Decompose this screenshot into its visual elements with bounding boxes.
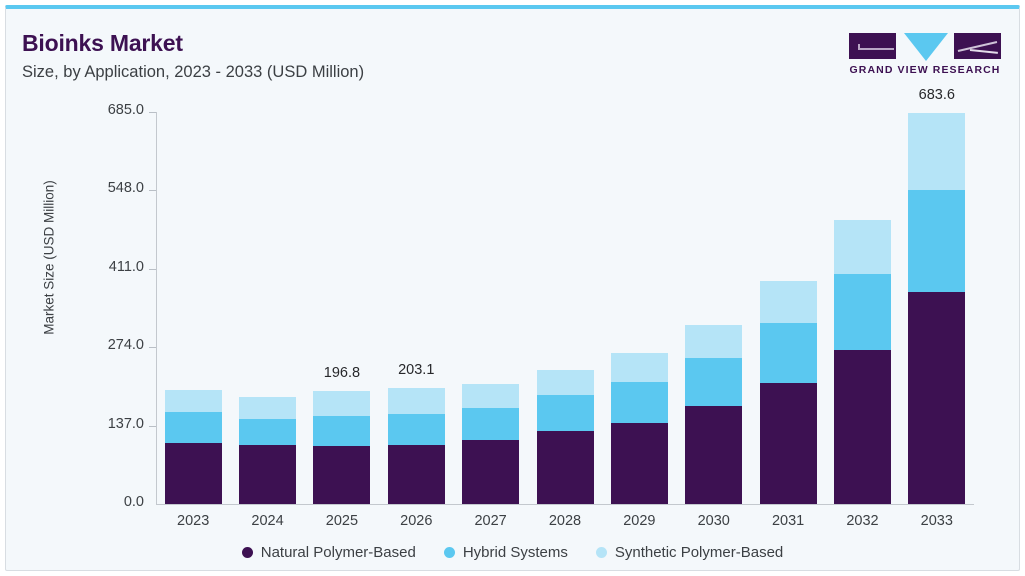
- bar-segment[interactable]: [165, 412, 222, 443]
- bar-segment[interactable]: [611, 423, 668, 504]
- y-tick-label: 137.0: [74, 416, 144, 432]
- bar-segment[interactable]: [760, 281, 817, 323]
- x-tick-label: 2027: [451, 513, 531, 529]
- x-tick-label: 2028: [525, 513, 605, 529]
- legend-label: Hybrid Systems: [463, 544, 568, 561]
- y-tick-mark: [149, 112, 156, 113]
- y-tick-mark: [149, 190, 156, 191]
- bar-segment[interactable]: [388, 445, 445, 505]
- legend-item[interactable]: Hybrid Systems: [444, 544, 568, 561]
- x-tick-label: 2024: [228, 513, 308, 529]
- x-tick-label: 2032: [822, 513, 902, 529]
- bar-segment[interactable]: [611, 382, 668, 423]
- y-tick-mark: [149, 347, 156, 348]
- x-axis-line: [156, 504, 974, 505]
- x-tick-label: 2026: [376, 513, 456, 529]
- bar-stack[interactable]: [239, 112, 296, 504]
- bar-segment[interactable]: [908, 292, 965, 504]
- bar-stack[interactable]: [165, 112, 222, 504]
- bar-segment[interactable]: [239, 419, 296, 445]
- bar-stack[interactable]: [313, 112, 370, 504]
- bar-segment[interactable]: [239, 397, 296, 419]
- bar-stack[interactable]: [537, 112, 594, 504]
- x-tick-label: 2025: [302, 513, 382, 529]
- legend-label: Synthetic Polymer-Based: [615, 544, 783, 561]
- bar-segment[interactable]: [313, 446, 370, 504]
- bar-segment[interactable]: [834, 220, 891, 274]
- chart-plot-area: Market Size (USD Million) 0.0137.0274.04…: [6, 9, 1019, 571]
- bar-segment[interactable]: [908, 190, 965, 292]
- bar-stack[interactable]: [462, 112, 519, 504]
- bar-segment[interactable]: [462, 408, 519, 441]
- y-tick-label: 685.0: [74, 102, 144, 118]
- bar-segment[interactable]: [313, 416, 370, 446]
- x-tick-label: 2031: [748, 513, 828, 529]
- bar-segment[interactable]: [313, 391, 370, 415]
- bar-segment[interactable]: [165, 390, 222, 412]
- legend-swatch-icon: [242, 547, 253, 558]
- bar-segment[interactable]: [462, 384, 519, 407]
- bar-segment[interactable]: [239, 445, 296, 504]
- y-axis-line: [156, 112, 157, 504]
- y-tick-mark: [149, 426, 156, 427]
- legend-label: Natural Polymer-Based: [261, 544, 416, 561]
- bar-stack[interactable]: [760, 112, 817, 504]
- y-tick-label: 274.0: [74, 337, 144, 353]
- bar-segment[interactable]: [537, 395, 594, 431]
- y-tick-label: 411.0: [74, 259, 144, 275]
- bar-segment[interactable]: [760, 323, 817, 383]
- bar-segment[interactable]: [834, 274, 891, 350]
- y-tick-mark: [149, 269, 156, 270]
- y-tick-label: 548.0: [74, 180, 144, 196]
- bar-segment[interactable]: [834, 350, 891, 505]
- bar-stack[interactable]: [834, 112, 891, 504]
- chart-card: Bioinks Market Size, by Application, 202…: [5, 5, 1020, 571]
- legend-item[interactable]: Natural Polymer-Based: [242, 544, 416, 561]
- x-tick-label: 2033: [897, 513, 977, 529]
- bar-value-label: 203.1: [371, 362, 461, 378]
- bar-segment[interactable]: [685, 358, 742, 405]
- legend-swatch-icon: [444, 547, 455, 558]
- bar-stack[interactable]: [908, 112, 965, 504]
- bar-segment[interactable]: [388, 414, 445, 445]
- bar-value-label: 683.6: [892, 87, 982, 103]
- x-tick-label: 2030: [674, 513, 754, 529]
- bar-segment[interactable]: [388, 388, 445, 414]
- legend-swatch-icon: [596, 547, 607, 558]
- bar-segment[interactable]: [165, 443, 222, 504]
- y-tick-label: 0.0: [74, 494, 144, 510]
- x-tick-label: 2029: [599, 513, 679, 529]
- legend-item[interactable]: Synthetic Polymer-Based: [596, 544, 783, 561]
- bar-stack[interactable]: [611, 112, 668, 504]
- y-axis-title: Market Size (USD Million): [42, 138, 57, 378]
- bar-segment[interactable]: [685, 406, 742, 504]
- bar-segment[interactable]: [760, 383, 817, 504]
- bar-segment[interactable]: [908, 113, 965, 190]
- bar-stack[interactable]: [388, 112, 445, 504]
- bar-segment[interactable]: [685, 325, 742, 358]
- bar-segment[interactable]: [611, 353, 668, 382]
- chart-legend: Natural Polymer-BasedHybrid SystemsSynth…: [6, 544, 1019, 561]
- bar-segment[interactable]: [537, 431, 594, 504]
- bar-segment[interactable]: [537, 370, 594, 395]
- bar-segment[interactable]: [462, 440, 519, 504]
- bar-stack[interactable]: [685, 112, 742, 504]
- x-tick-label: 2023: [153, 513, 233, 529]
